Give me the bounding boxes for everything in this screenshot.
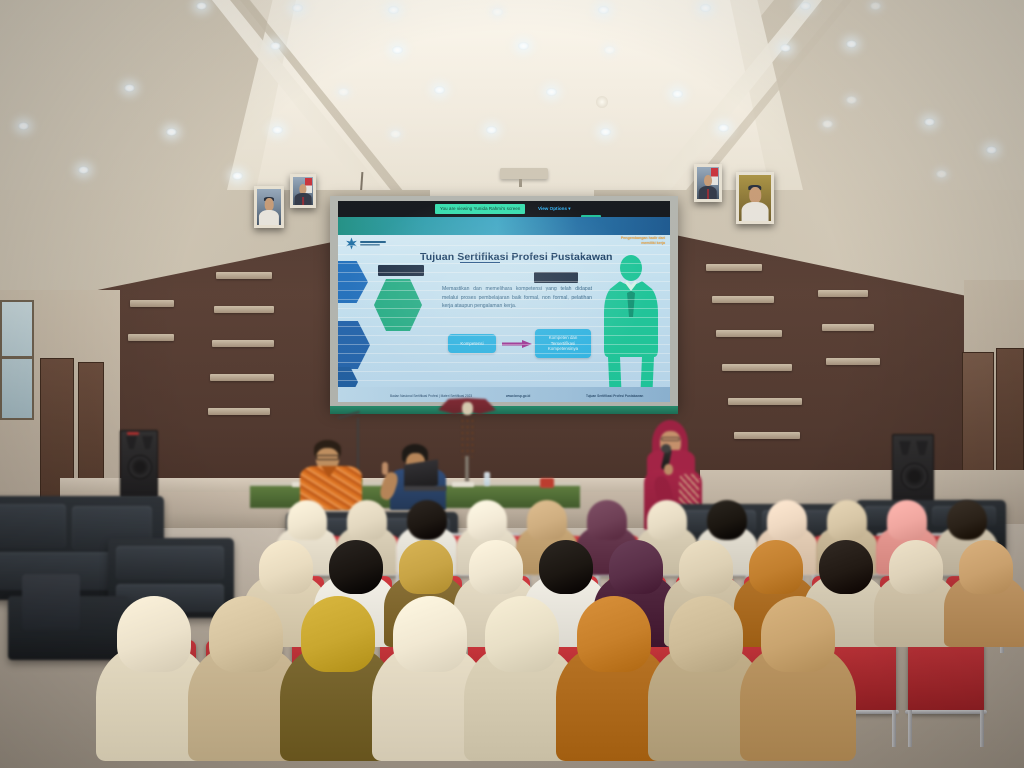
downlight bbox=[780, 44, 791, 52]
screen-bottom-bar bbox=[330, 406, 678, 414]
projection-screen: You are viewing Yunida Rahmi's screen Vi… bbox=[330, 196, 678, 408]
wall-strip bbox=[734, 432, 800, 439]
downlight bbox=[518, 42, 529, 50]
laptop bbox=[404, 462, 446, 492]
chair-rail bbox=[905, 710, 987, 714]
redaction-block bbox=[378, 265, 424, 276]
portrait-frame bbox=[290, 174, 316, 208]
wall-strip bbox=[706, 264, 762, 271]
downlight bbox=[272, 126, 283, 134]
downlight bbox=[846, 40, 857, 48]
hijab bbox=[527, 500, 567, 540]
downlight bbox=[196, 2, 207, 10]
hijab bbox=[301, 596, 375, 672]
slide-footer-right: Tujuan Sertifikasi Profesi Pustakawan bbox=[586, 394, 643, 398]
hijab bbox=[259, 540, 313, 594]
slide-logo-wordmark bbox=[360, 241, 386, 245]
hijab bbox=[117, 596, 191, 672]
hijab bbox=[889, 540, 943, 594]
downlight bbox=[486, 126, 497, 134]
wall-strip bbox=[208, 408, 270, 415]
water-bottle bbox=[484, 472, 490, 486]
hand bbox=[664, 464, 673, 475]
projector-mount bbox=[519, 179, 522, 187]
slide-chevron-1 bbox=[338, 261, 368, 303]
downlight bbox=[700, 4, 711, 12]
ceiling-vent bbox=[596, 96, 608, 108]
hijab bbox=[287, 500, 327, 540]
downlight bbox=[388, 6, 399, 14]
slide-title-underline bbox=[460, 262, 500, 263]
microphone-head bbox=[661, 444, 671, 453]
hijab bbox=[767, 500, 807, 540]
portrait-frame bbox=[694, 164, 722, 202]
hijab bbox=[587, 500, 627, 540]
hijab bbox=[761, 596, 835, 672]
downlight bbox=[718, 124, 729, 132]
wall-strip bbox=[216, 272, 272, 279]
pa-speaker-left bbox=[120, 430, 158, 498]
wall-strip bbox=[128, 334, 174, 341]
downlight bbox=[870, 2, 881, 10]
downlight bbox=[270, 42, 281, 50]
hijab bbox=[469, 540, 523, 594]
wall-strip bbox=[722, 364, 792, 371]
redaction-block bbox=[534, 272, 578, 283]
wall-strip bbox=[716, 330, 782, 337]
hair bbox=[407, 500, 447, 540]
downlight bbox=[434, 86, 445, 94]
slide-footer: Badan Nasional Sertifikasi Profesi | Mat… bbox=[338, 387, 670, 402]
pa-speaker-right bbox=[892, 434, 934, 510]
hair bbox=[707, 500, 747, 540]
zoom-view-options-label: View Options bbox=[538, 206, 567, 211]
slide-header-band bbox=[338, 217, 670, 235]
downlight bbox=[18, 122, 29, 130]
businessman-silhouette-icon bbox=[594, 253, 668, 402]
hijab bbox=[749, 540, 803, 594]
paper-sheet bbox=[452, 482, 474, 487]
screen-surface: You are viewing Yunida Rahmi's screen Vi… bbox=[338, 201, 670, 402]
slide-flow-to: Kompeten dan Tersertifikasi Kompetensiny… bbox=[535, 329, 591, 358]
slide-body-text: Memastikan dan memelihara kompetensi yan… bbox=[442, 285, 592, 311]
hair bbox=[819, 540, 873, 594]
hair bbox=[329, 540, 383, 594]
portrait-frame bbox=[254, 186, 284, 228]
chair-leg bbox=[980, 710, 984, 747]
laptop-keyboard bbox=[404, 486, 446, 491]
eyeglasses-icon bbox=[316, 455, 339, 460]
hair bbox=[539, 540, 593, 594]
downlight bbox=[800, 2, 811, 10]
wall-strip bbox=[214, 306, 274, 313]
hijab bbox=[827, 500, 867, 540]
downlight bbox=[846, 96, 857, 104]
downlight bbox=[338, 88, 349, 96]
arrow-right-icon bbox=[502, 340, 532, 348]
zoom-viewing-banner: You are viewing Yunida Rahmi's screen bbox=[435, 204, 525, 214]
hijab bbox=[347, 500, 387, 540]
slide-chevron-2 bbox=[338, 321, 370, 369]
wall-strip bbox=[728, 398, 802, 405]
hijab bbox=[669, 596, 743, 672]
window-mullion bbox=[0, 356, 34, 359]
audience-member bbox=[740, 596, 856, 768]
audience-member bbox=[944, 540, 1024, 668]
wall-strip bbox=[822, 324, 874, 331]
zoom-view-options-button[interactable]: View Options ▾ bbox=[538, 204, 571, 214]
wall-strip bbox=[712, 296, 774, 303]
downlight bbox=[78, 166, 89, 174]
slide-footer-center: www.bnsp.go.id bbox=[506, 394, 530, 398]
wall-strip bbox=[826, 358, 880, 365]
star-logo-icon bbox=[345, 237, 358, 250]
downlight bbox=[936, 170, 947, 178]
hijab bbox=[399, 540, 453, 594]
downlight bbox=[292, 4, 303, 12]
chevron-down-icon: ▾ bbox=[568, 206, 570, 211]
downlight bbox=[986, 146, 997, 154]
slide-flow-from: Kompetensi bbox=[448, 334, 496, 353]
hijab bbox=[209, 596, 283, 672]
eyeglasses-icon bbox=[661, 437, 680, 441]
downlight bbox=[604, 46, 615, 54]
downlight bbox=[672, 90, 683, 98]
chair-leg bbox=[892, 710, 896, 747]
hijab bbox=[577, 596, 651, 672]
wall-strip bbox=[130, 300, 174, 307]
slide: Pengembangan hadir dari memiliki kerja T… bbox=[338, 217, 670, 402]
downlight bbox=[124, 84, 135, 92]
hijab bbox=[609, 540, 663, 594]
downlight bbox=[392, 46, 403, 54]
hair bbox=[947, 500, 987, 540]
zoom-meeting-bar: You are viewing Yunida Rahmi's screen Vi… bbox=[338, 201, 670, 217]
slide-logo bbox=[345, 237, 386, 250]
slide-tagline: Pengembangan hadir dari memiliki kerja bbox=[611, 236, 665, 245]
hijab bbox=[485, 596, 559, 672]
downlight bbox=[232, 172, 243, 180]
wall-strip bbox=[210, 374, 274, 381]
projector bbox=[500, 168, 548, 179]
bag bbox=[22, 574, 80, 630]
hijab bbox=[647, 500, 687, 540]
wall-strip bbox=[212, 340, 274, 347]
downlight bbox=[822, 120, 833, 128]
pointing-finger bbox=[382, 462, 388, 475]
hijab bbox=[679, 540, 733, 594]
hijab bbox=[887, 500, 927, 540]
window-left bbox=[0, 300, 34, 420]
chair-leg bbox=[908, 710, 912, 747]
slide-hexagon bbox=[374, 279, 422, 331]
downlight bbox=[600, 128, 611, 136]
downlight bbox=[546, 88, 557, 96]
hijab bbox=[959, 540, 1013, 594]
downlight bbox=[924, 118, 935, 126]
downlight bbox=[390, 130, 401, 138]
table-item bbox=[540, 478, 554, 488]
portrait-frame bbox=[736, 172, 774, 224]
wall-strip bbox=[818, 290, 868, 297]
downlight bbox=[598, 6, 609, 14]
hijab bbox=[393, 596, 467, 672]
downlight bbox=[492, 8, 503, 16]
seminar-hall-photo: You are viewing Yunida Rahmi's screen Vi… bbox=[0, 0, 1024, 768]
hijab bbox=[467, 500, 507, 540]
downlight bbox=[166, 128, 177, 136]
